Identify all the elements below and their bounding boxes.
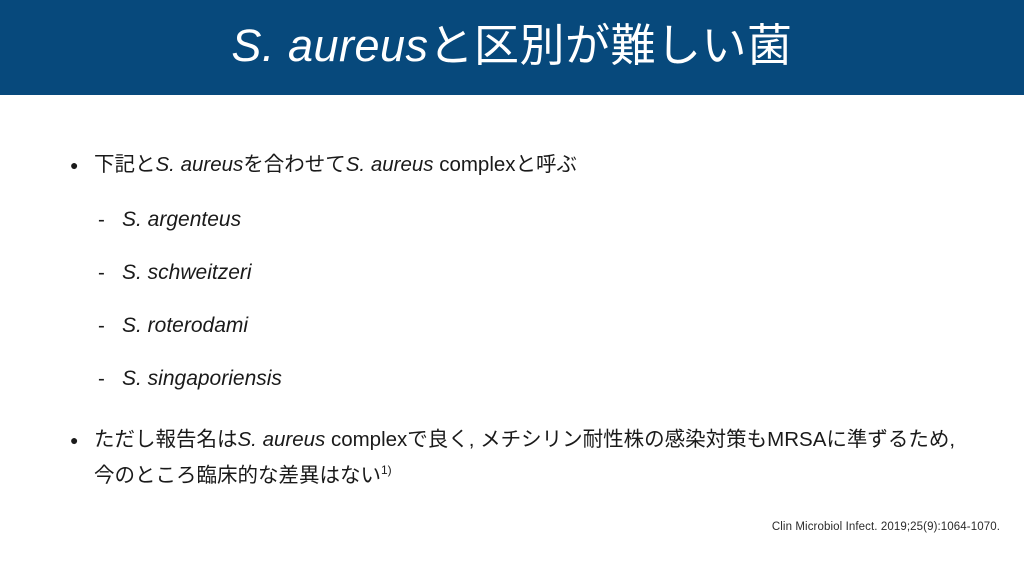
bullet-text-part-3: complexと呼ぶ [434,153,578,176]
sub-item-label: S. roterodami [122,308,248,344]
title-scientific-name: S. aureus [231,20,428,71]
dash-marker-icon: - [98,308,122,344]
bullet-dot-icon: ● [70,422,94,458]
bullet-item-reporting-note: ● ただし報告名はS. aureus complexで良く, メチシリン耐性株の… [70,422,970,494]
sub-item-s-argenteus: - S. argenteus [98,202,241,238]
sub-item-s-singaporiensis: - S. singaporiensis [98,361,282,397]
sub-item-s-roterodami: - S. roterodami [98,308,248,344]
bullet-text-part-2: を合わせて [243,153,346,176]
reference-citation: Clin Microbiol Infect. 2019;25(9):1064-1… [772,521,1000,533]
sub-item-label: S. schweitzeri [122,255,252,291]
sub-item-s-schweitzeri: - S. schweitzeri [98,255,252,291]
bullet-text-part-1: ただし報告名は [94,428,238,451]
bullet-text: ただし報告名はS. aureus complexで良く, メチシリン耐性株の感染… [94,422,970,494]
bullet-text-part-1: 下記と [94,153,156,176]
bullet-text-species-1: S. aureus [238,428,326,451]
dash-marker-icon: - [98,361,122,397]
citation-superscript-marker: 1) [381,463,392,477]
bullet-dot-icon: ● [70,147,94,183]
slide-title-band: S. aureusと区別が難しい菌 [0,0,1024,95]
bullet-text: 下記とS. aureusを合わせてS. aureus complexと呼ぶ [94,147,577,183]
bullet-item-complex-definition: ● 下記とS. aureusを合わせてS. aureus complexと呼ぶ [70,147,577,183]
dash-marker-icon: - [98,255,122,291]
dash-marker-icon: - [98,202,122,238]
sub-item-label: S. singaporiensis [122,361,282,397]
slide-canvas: S. aureusと区別が難しい菌 ● 下記とS. aureusを合わせてS. … [0,0,1024,576]
sub-item-label: S. argenteus [122,202,241,238]
title-japanese-suffix: と区別が難しい菌 [429,20,793,71]
page-title: S. aureusと区別が難しい菌 [231,22,792,69]
bullet-text-species-2: S. aureus [346,153,434,176]
slide-body: ● 下記とS. aureusを合わせてS. aureus complexと呼ぶ … [0,95,1024,576]
bullet-text-species-1: S. aureus [156,153,244,176]
